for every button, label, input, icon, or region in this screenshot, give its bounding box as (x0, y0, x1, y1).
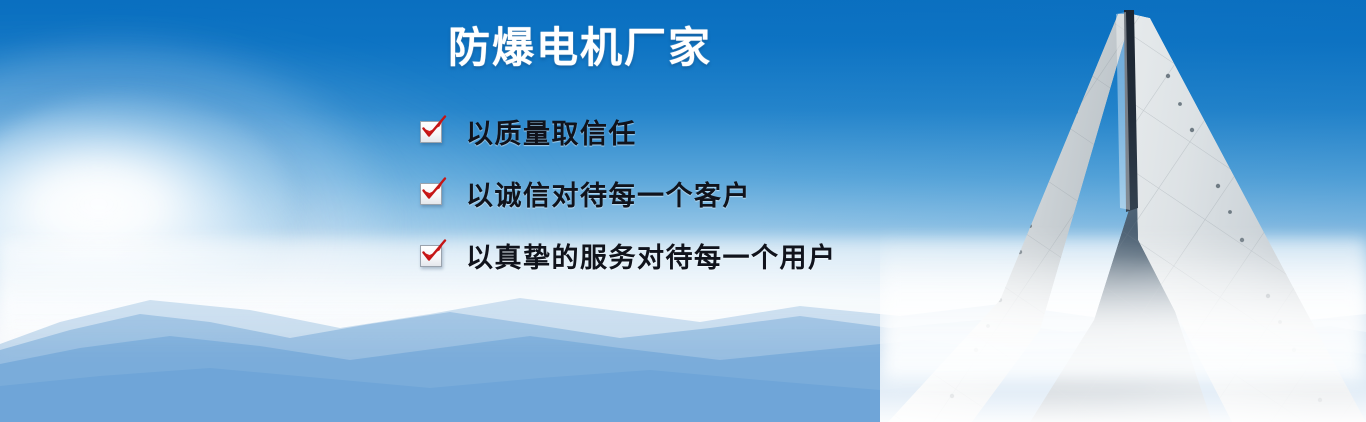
benefits-list: 以质量取信任 以诚信对待每一个客户 (420, 100, 837, 286)
red-check-icon (420, 118, 446, 144)
checkmark-glyph (418, 176, 448, 206)
monument-svg (880, 0, 1366, 422)
benefit-item: 以诚信对待每一个客户 (420, 162, 837, 224)
benefit-text: 以诚信对待每一个客户 (466, 174, 751, 213)
red-check-icon (420, 242, 446, 268)
benefit-item: 以真挚的服务对待每一个用户 (420, 224, 837, 286)
benefit-text: 以质量取信任 (466, 112, 637, 151)
checkmark-glyph (418, 238, 448, 268)
checkmark-glyph (418, 114, 448, 144)
hero-banner: 防爆电机厂家 以质量取信任 (0, 0, 1366, 422)
benefit-text: 以真挚的服务对待每一个用户 (466, 236, 837, 275)
concrete-monument-graphic (880, 0, 1366, 422)
red-check-icon (420, 180, 446, 206)
banner-headline: 防爆电机厂家 (448, 24, 712, 71)
monument-bottom-fade (880, 255, 1366, 422)
benefit-item: 以质量取信任 (420, 100, 837, 162)
banner-content: 防爆电机厂家 以质量取信任 (0, 0, 900, 422)
